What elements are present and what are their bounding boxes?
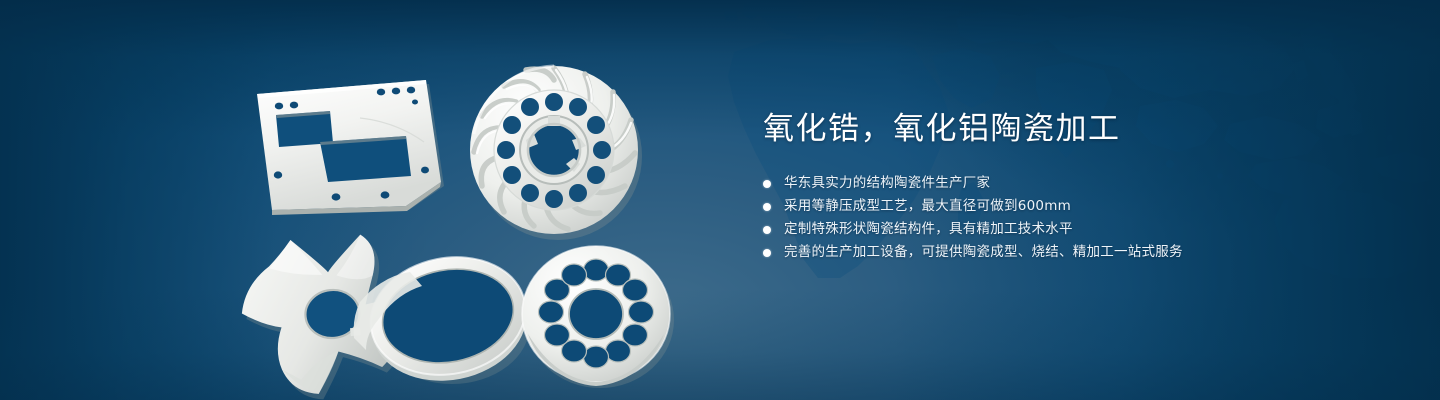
ceramic-ring [354,244,537,394]
banner-headline: 氧化锆，氧化铝陶瓷加工 [763,108,1323,150]
bullet-dot-icon [763,249,771,257]
list-item: 采用等静压成型工艺，最大直径可做到600mm [763,195,1323,218]
ceramic-impeller-wheel [470,66,642,240]
feature-text: 完善的生产加工设备，可提供陶瓷成型、烧结、精加工一站式服务 [784,241,1183,264]
feature-list: 华东具实力的结构陶瓷件生产厂家 采用等静压成型工艺，最大直径可做到600mm 定… [763,172,1323,264]
bullet-dot-icon [763,203,771,211]
ceramic-products-image [210,30,730,380]
list-item: 完善的生产加工设备，可提供陶瓷成型、烧结、精加工一站式服务 [763,241,1323,264]
ceramic-perforated-disc [522,246,674,388]
feature-text: 定制特殊形状陶瓷结构件，具有精加工技术水平 [784,218,1073,241]
feature-text: 采用等静压成型工艺，最大直径可做到600mm [784,195,1071,218]
hero-banner: 氧化锆，氧化铝陶瓷加工 华东具实力的结构陶瓷件生产厂家 采用等静压成型工艺，最大… [0,0,1440,400]
list-item: 定制特殊形状陶瓷结构件，具有精加工技术水平 [763,218,1323,241]
feature-text: 华东具实力的结构陶瓷件生产厂家 [784,172,990,195]
bullet-dot-icon [763,226,771,234]
banner-copy: 氧化锆，氧化铝陶瓷加工 华东具实力的结构陶瓷件生产厂家 采用等静压成型工艺，最大… [763,108,1323,264]
bullet-dot-icon [763,180,771,188]
ceramic-mounting-plate [257,80,444,215]
list-item: 华东具实力的结构陶瓷件生产厂家 [763,172,1323,195]
